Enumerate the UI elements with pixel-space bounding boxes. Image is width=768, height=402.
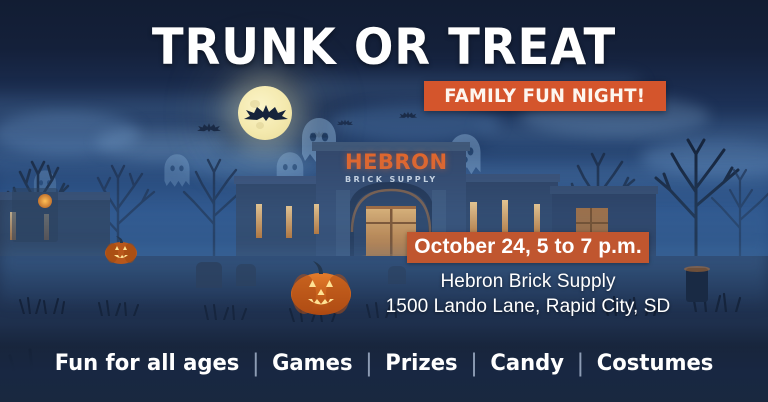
gravestone bbox=[196, 262, 222, 288]
gravestone bbox=[12, 188, 58, 242]
tagline-list: Fun for all ages|Games|Prizes|Candy|Cost… bbox=[53, 349, 716, 377]
date-time-row: October 24, 5 to 7 p.m. bbox=[368, 232, 688, 263]
tagline-item: Games bbox=[270, 351, 354, 376]
tagline-separator: | bbox=[354, 349, 383, 377]
event-date-time: October 24, 5 to 7 p.m. bbox=[407, 232, 649, 263]
tagline-separator: | bbox=[566, 349, 595, 377]
tagline-item: Fun for all ages bbox=[53, 351, 241, 376]
jack-o-lantern-small bbox=[104, 234, 138, 264]
tagline-bar: Fun for all ages|Games|Prizes|Candy|Cost… bbox=[0, 324, 768, 402]
grass-tuft bbox=[16, 292, 76, 314]
event-venue: Hebron Brick Supply bbox=[368, 271, 688, 293]
tagline-item: Prizes bbox=[383, 351, 459, 376]
family-fun-night-banner: FAMILY FUN NIGHT! bbox=[424, 81, 666, 111]
lantern-glow bbox=[38, 194, 52, 208]
halloween-event-poster: HEBRON BRICK SUPPLY bbox=[0, 0, 768, 402]
banner-label: FAMILY FUN NIGHT! bbox=[445, 85, 646, 107]
tagline-separator: | bbox=[459, 349, 488, 377]
event-address: 1500 Lando Lane, Rapid City, SD bbox=[368, 296, 688, 318]
grass-tuft bbox=[96, 296, 148, 316]
jack-o-lantern-large bbox=[290, 258, 352, 316]
tagline-item: Costumes bbox=[595, 351, 715, 376]
page-title: TRUNK OR TREAT bbox=[27, 22, 741, 72]
tree-stump bbox=[686, 268, 708, 302]
grass-tuft bbox=[200, 300, 256, 320]
event-details: October 24, 5 to 7 p.m. Hebron Brick Sup… bbox=[368, 232, 688, 318]
gravestone bbox=[236, 264, 256, 286]
tagline-item: Candy bbox=[488, 351, 566, 376]
tagline-separator: | bbox=[241, 349, 270, 377]
